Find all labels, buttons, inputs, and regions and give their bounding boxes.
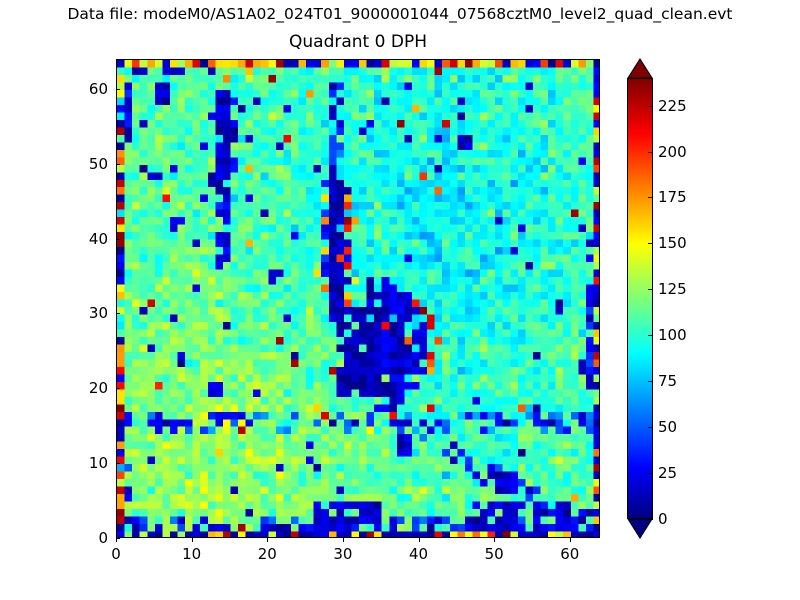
y-tick-mark (116, 538, 120, 539)
heatmap-image (117, 60, 600, 538)
colorbar-tick-label: 25 (658, 464, 677, 482)
y-tick-label: 30 (70, 304, 108, 322)
colorbar-tick-mark (648, 243, 653, 244)
colorbar-tick-mark (648, 519, 653, 520)
colorbar-tick-label: 75 (658, 372, 677, 390)
x-tick-mark (192, 538, 193, 542)
x-tick-label: 40 (409, 545, 428, 563)
colorbar-tick-mark (648, 473, 653, 474)
y-tick-label: 60 (70, 80, 108, 98)
x-tick-label: 50 (485, 545, 504, 563)
colorbar-tick-mark (648, 381, 653, 382)
heatmap-axes (116, 59, 600, 538)
x-tick-label: 0 (111, 545, 121, 563)
colorbar-tick-mark (648, 427, 653, 428)
x-tick-label: 30 (333, 545, 352, 563)
colorbar-tick-label: 175 (658, 188, 687, 206)
x-tick-mark (419, 538, 420, 542)
colorbar-body (627, 78, 653, 519)
axes-title: Quadrant 0 DPH (116, 32, 600, 52)
colorbar-tick-label: 125 (658, 280, 687, 298)
colorbar-gradient (628, 79, 652, 518)
y-tick-mark (116, 239, 120, 240)
colorbar: 0255075100125150175200225 (627, 59, 653, 538)
x-tick-label: 60 (560, 545, 579, 563)
x-tick-mark (494, 538, 495, 542)
y-tick-mark (116, 463, 120, 464)
y-tick-mark (116, 164, 120, 165)
x-tick-mark (343, 538, 344, 542)
colorbar-tick-mark (648, 106, 653, 107)
y-tick-label: 0 (70, 529, 108, 547)
figure-suptitle: Data file: modeM0/AS1A02_024T01_90000010… (0, 5, 800, 23)
y-tick-mark (116, 89, 120, 90)
x-tick-mark (267, 538, 268, 542)
x-tick-mark (570, 538, 571, 542)
y-tick-label: 40 (70, 230, 108, 248)
x-tick-label: 20 (258, 545, 277, 563)
colorbar-tick-label: 225 (658, 97, 687, 115)
colorbar-tick-label: 200 (658, 143, 687, 161)
colorbar-tick-label: 0 (658, 510, 668, 528)
colorbar-tick-mark (648, 197, 653, 198)
y-tick-label: 20 (70, 379, 108, 397)
y-tick-mark (116, 388, 120, 389)
y-tick-label: 50 (70, 155, 108, 173)
matplotlib-figure: Data file: modeM0/AS1A02_024T01_90000010… (0, 0, 800, 600)
colorbar-tick-label: 100 (658, 326, 687, 344)
x-tick-label: 10 (182, 545, 201, 563)
colorbar-tick-mark (648, 335, 653, 336)
colorbar-tick-label: 150 (658, 234, 687, 252)
y-tick-mark (116, 313, 120, 314)
colorbar-tick-label: 50 (658, 418, 677, 436)
colorbar-extend-min-arrow (627, 519, 653, 539)
y-tick-label: 10 (70, 454, 108, 472)
colorbar-tick-mark (648, 289, 653, 290)
colorbar-extend-max-arrow (627, 58, 653, 78)
colorbar-tick-mark (648, 152, 653, 153)
